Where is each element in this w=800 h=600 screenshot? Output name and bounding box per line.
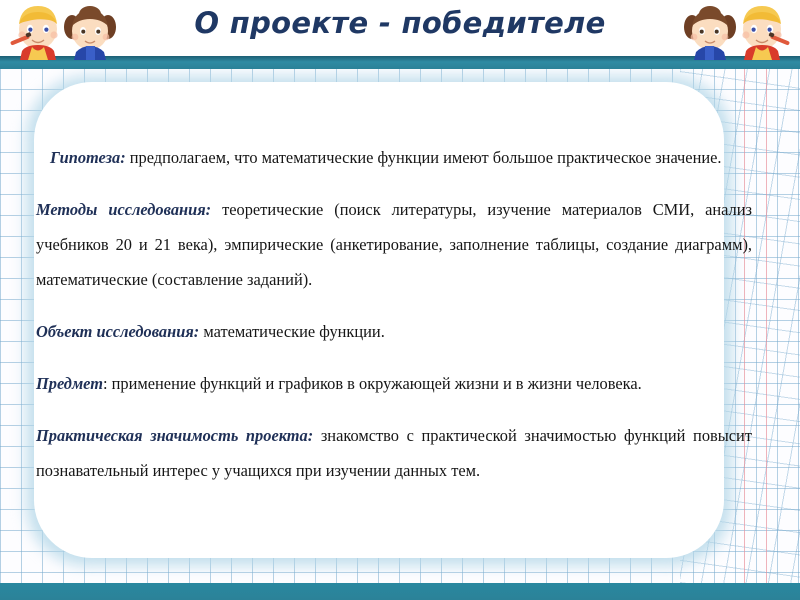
paper-margin-line [766,68,767,583]
cartoon-children-right-icon [668,2,796,60]
paragraph-lead: Объект исследования: [36,322,199,341]
presentation-slide: О проекте - победителе [0,0,800,600]
paragraph-text: применение функций и графиков в окружающ… [108,374,642,393]
paragraph-research-object: Объект исследования: математические функ… [36,314,752,349]
footer-accent-bar [0,583,800,600]
paragraph-lead: Предмет [36,374,103,393]
paragraph-lead: Методы исследования: [36,200,211,219]
paragraph-research-methods: Методы исследования: теоретические (поис… [36,192,752,297]
paragraph-lead: Практическая значимость проекта: [36,426,313,445]
cartoon-children-left-icon [4,2,132,60]
paragraph-text: математические функции. [199,322,385,341]
paragraph-text: предполагаем, что математические функции… [126,148,722,167]
paragraph-hypothesis: Гипотеза: предполагаем, что математическ… [36,140,752,175]
paragraph-subject: Предмет: применение функций и графиков в… [36,366,752,401]
paragraph-lead: Гипотеза: [50,148,126,167]
slide-body: Гипотеза: предполагаем, что математическ… [36,140,752,488]
paragraph-practical-significance: Практическая значимость проекта: знакомс… [36,418,752,488]
